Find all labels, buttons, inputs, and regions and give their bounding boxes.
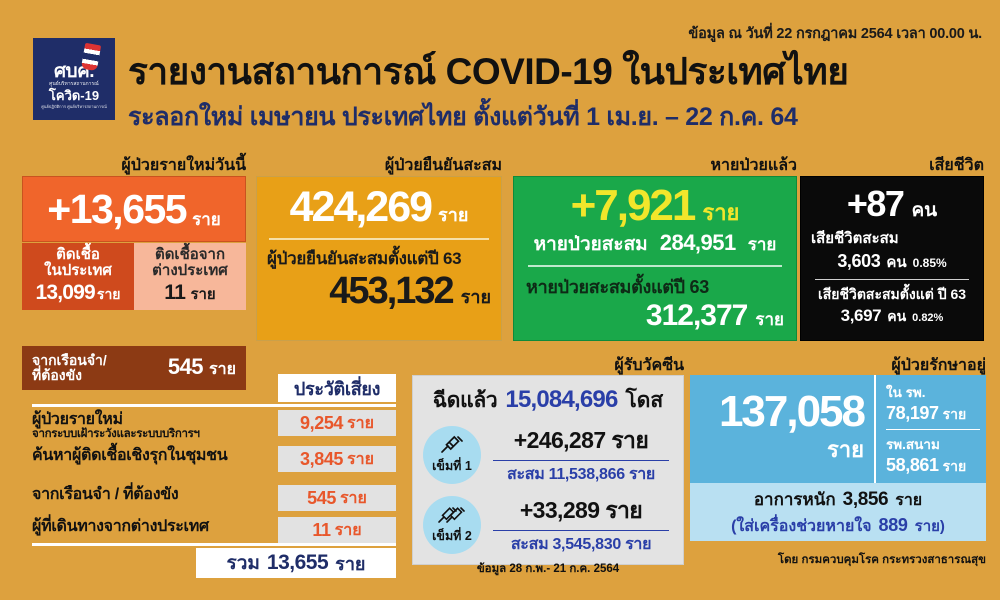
risk-row-1: ผู้ป่วยรายใหม่ จากระบบเฝ้าระวังและระบบบร… <box>20 412 396 442</box>
cumulative-since63-value: 453,132 <box>329 270 452 313</box>
deaths-unit: คน <box>911 195 937 225</box>
recovered-cum-value: 284,951 <box>660 230 736 256</box>
cumulative-since63-label: ผู้ป่วยยืนยันสะสมตั้งแต่ปี 63 <box>267 245 491 272</box>
vaccine-injected-unit: โดส <box>626 384 664 417</box>
deaths-cum-label: เสียชีวิตสะสม <box>811 226 973 250</box>
recovered-value: +7,921 <box>571 181 695 231</box>
risk-row-4-label: ผู้ที่เดินทางจากต่างประเทศ <box>32 518 209 535</box>
dose-2-label: เข็มที่ 2 <box>432 526 472 546</box>
recovered-divider <box>528 265 782 267</box>
syringe-single-icon <box>439 435 465 455</box>
dose-2-cum-value: สะสม 3,545,830 ราย <box>489 532 673 557</box>
risk-row-2-value: 3,845 <box>300 449 343 470</box>
prison-value: 545 <box>168 354 203 380</box>
treatment-field-label: รพ.สนาม <box>886 433 986 455</box>
risk-row-3-unit: ราย <box>340 486 367 511</box>
ventilator-label: (ใส่เครื่องช่วยหายใจ <box>731 514 871 539</box>
logo-line-3: โควิด-19 <box>49 89 99 103</box>
deaths-since63-pct: 0.82% <box>912 312 943 324</box>
domestic-unit: ราย <box>97 284 121 306</box>
page-title: รายงานสถานการณ์ COVID-19 ในประเทศไทย <box>128 42 848 101</box>
prison-label-line2: ที่ต้องขัง <box>32 368 107 383</box>
logo-line-2: ศูนย์บริหารสถานการณ์ <box>49 82 99 88</box>
foreign-value: 11 <box>164 281 185 305</box>
recovered-card: +7,921 ราย หายป่วยสะสม 284,951 ราย หายป่… <box>513 176 797 341</box>
dose-1-divider <box>493 460 669 461</box>
risk-row-3: จากเรือนจำ / ที่ต้องขัง 545 ราย <box>20 487 396 517</box>
risk-row-1-sublabel: จากระบบเฝ้าระวังและระบบบริการฯ <box>32 429 200 441</box>
cumulative-since63-unit: ราย <box>461 282 491 311</box>
vaccine-dose-1-row: เข็มที่ 1 +246,287 ราย สะสม 11,538,866 ร… <box>423 423 673 487</box>
ventilator-value: 889 <box>879 515 908 536</box>
treatment-field-unit: ราย <box>943 456 967 478</box>
risk-row-2-value-badge: 3,845 ราย <box>278 446 396 472</box>
risk-row-2-label: ค้นหาผู้ติดเชื้อเชิงรุกในชุมชน <box>32 447 227 464</box>
dose-1-cum-value: สะสม 11,538,866 ราย <box>489 462 673 487</box>
foreign-cases-card: ติดเชื้อจาก ต่างประเทศ 11 ราย <box>134 243 246 310</box>
risk-row-4-value-badge: 11 ราย <box>278 517 396 543</box>
new-cases-card: +13,655 ราย <box>22 176 246 242</box>
infographic-root: ข้อมูล ณ วันที่ 22 กรกฎาคม 2564 เวลา 00.… <box>0 0 1000 600</box>
treatment-card: 137,058 ราย ใน รพ. 78,197 ราย รพ.สนาม 58… <box>690 375 986 483</box>
treatment-hospital-unit: ราย <box>943 404 967 426</box>
risk-history-divider-bottom <box>32 543 396 546</box>
cumulative-cases-card: 424,269 ราย ผู้ป่วยยืนยันสะสมตั้งแต่ปี 6… <box>256 176 502 341</box>
dose-1-new-value: +246,287 ราย <box>489 423 673 459</box>
cumulative-divider <box>269 238 489 240</box>
deaths-cum-value: 3,603 <box>837 251 880 272</box>
cbc-logo: ศบค. ศูนย์บริหารสถานการณ์ โควิด-19 ศูนย์… <box>33 38 115 120</box>
syringe-double-icon <box>437 505 467 525</box>
risk-total-unit: ราย <box>335 549 365 578</box>
caption-cumulative: ผู้ป่วยยืนยันสะสม <box>300 153 502 178</box>
risk-row-3-label: จากเรือนจำ / ที่ต้องขัง <box>32 486 178 503</box>
risk-total-label: รวม <box>227 548 260 578</box>
prison-unit: ราย <box>209 357 236 382</box>
deaths-divider <box>815 279 969 280</box>
vaccine-dose-2-row: เข็มที่ 2 +33,289 ราย สะสม 3,545,830 ราย <box>423 493 673 557</box>
severe-value: 3,856 <box>843 489 889 511</box>
risk-row-1-value-badge: 9,254 ราย <box>278 410 396 436</box>
foreign-label-line2: ต่างประเทศ <box>152 263 228 279</box>
caption-new-cases: ผู้ป่วยรายใหม่วันนี้ <box>60 153 246 178</box>
prison-cases-card: จากเรือนจำ/ ที่ต้องขัง 545 ราย <box>22 346 246 390</box>
recovered-cum-label: หายป่วยสะสม <box>534 229 648 259</box>
deaths-since63-label: เสียชีวิตสะสมตั้งแต่ ปี 63 <box>811 284 973 306</box>
thai-flag-ribbon-icon <box>81 43 101 71</box>
ventilator-unit: ราย) <box>915 514 945 538</box>
domestic-value: 13,099 <box>35 281 94 305</box>
domestic-label-line2: ในประเทศ <box>44 263 112 279</box>
risk-history-total: รวม 13,655 ราย <box>196 548 396 578</box>
risk-row-4-value: 11 <box>312 520 330 541</box>
domestic-label-line1: ติดเชื้อ <box>56 247 100 263</box>
risk-history-title: ประวัติเสี่ยง <box>278 374 396 402</box>
credit-line: โดย กรมควบคุมโรค กระทรวงสาธารณสุข <box>778 551 986 569</box>
deaths-value: +87 <box>847 183 904 225</box>
recovered-cum-unit: ราย <box>748 231 777 258</box>
severe-cases-card: อาการหนัก 3,856 ราย (ใส่เครื่องช่วยหายใจ… <box>690 483 986 541</box>
new-cases-value: +13,655 <box>47 186 186 233</box>
risk-row-3-value-badge: 545 ราย <box>278 485 396 511</box>
risk-row-1-label: ผู้ป่วยรายใหม่ <box>32 411 123 428</box>
dose-2-divider <box>493 530 669 531</box>
deaths-since63-unit: คน <box>887 306 906 328</box>
logo-line-4: ศูนย์ปฏิบัติการ ศูนย์บริหารสถานการณ์ <box>41 105 107 109</box>
dose-2-badge: เข็มที่ 2 <box>423 496 481 554</box>
new-cases-unit: ราย <box>192 206 221 233</box>
cumulative-value: 424,269 <box>290 183 431 232</box>
caption-deaths: เสียชีวิต <box>860 153 984 178</box>
domestic-cases-card: ติดเชื้อ ในประเทศ 13,099 ราย <box>22 243 134 310</box>
vaccine-card: ฉีดแล้ว 15,084,696 โดส เข็มที่ 1 +246,28… <box>412 375 684 565</box>
recovered-since63-value: 312,377 <box>646 299 747 333</box>
risk-row-1-value: 9,254 <box>300 413 343 434</box>
risk-row-4-unit: ราย <box>335 518 362 543</box>
foreign-label-line1: ติดเชื้อจาก <box>155 247 225 263</box>
dose-1-label: เข็มที่ 1 <box>432 456 472 476</box>
risk-row-3-value: 545 <box>307 488 336 509</box>
treatment-total-unit: ราย <box>827 432 864 467</box>
treatment-hospital-value: 78,197 <box>886 403 939 424</box>
risk-history-divider-top <box>32 404 396 407</box>
vaccine-footnote: ข้อมูล 28 ก.พ.- 21 ก.ค. 2564 <box>423 560 673 578</box>
deaths-cum-pct: 0.85% <box>913 256 947 270</box>
severe-label: อาการหนัก <box>754 486 836 513</box>
dose-1-badge: เข็มที่ 1 <box>423 426 481 484</box>
treatment-field-value: 58,861 <box>886 455 939 476</box>
caption-recovered: หายป่วยแล้ว <box>600 153 797 178</box>
treatment-divider <box>886 429 980 430</box>
vaccine-injected-value: 15,084,696 <box>505 386 617 414</box>
risk-total-value: 13,655 <box>267 551 328 575</box>
deaths-since63-value: 3,697 <box>841 306 882 326</box>
treatment-hospital-label: ใน รพ. <box>886 381 986 403</box>
recovered-since63-unit: ราย <box>755 306 784 333</box>
vaccine-injected-label: ฉีดแล้ว <box>433 384 498 417</box>
foreign-unit: ราย <box>190 282 215 306</box>
risk-row-2: ค้นหาผู้ติดเชื้อเชิงรุกในชุมชน 3,845 ราย <box>20 448 396 478</box>
dose-2-new-value: +33,289 ราย <box>489 493 673 529</box>
risk-row-1-unit: ราย <box>347 411 374 436</box>
prison-label-line1: จากเรือนจำ/ <box>32 353 107 368</box>
page-subtitle: ระลอกใหม่ เมษายน ประเทศไทย ตั้งแต่วันที่… <box>128 97 798 137</box>
deaths-card: +87 คน เสียชีวิตสะสม 3,603 คน 0.85% เสีย… <box>800 176 984 341</box>
recovered-since63-label: หายป่วยสะสมตั้งแต่ปี 63 <box>526 272 784 301</box>
cumulative-unit: ราย <box>438 200 468 229</box>
recovered-unit: ราย <box>702 195 739 230</box>
treatment-total-value: 137,058 <box>719 391 864 433</box>
risk-row-2-unit: ราย <box>347 447 374 472</box>
severe-unit: ราย <box>895 488 922 513</box>
deaths-cum-unit: คน <box>886 250 906 274</box>
